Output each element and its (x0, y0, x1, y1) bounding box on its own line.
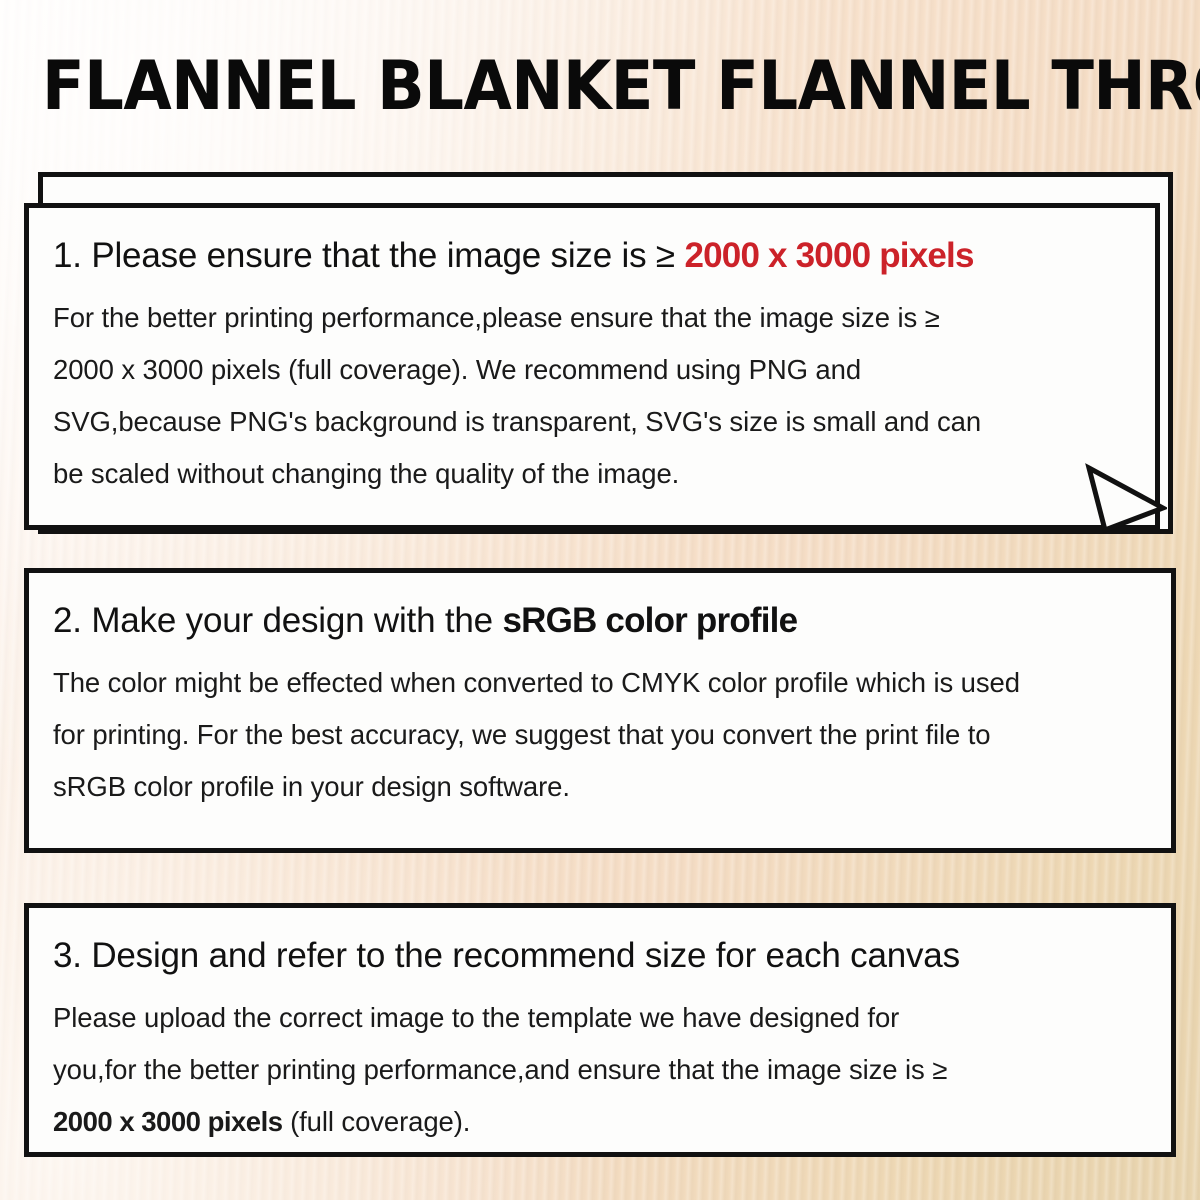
card-3-heading-lead: Design and refer to the recommend size f… (91, 936, 960, 975)
instruction-poster: FLANNEL BLANKET FLANNEL THROW 1. Please … (0, 0, 1200, 1200)
card-1-body-line-4: be scaled without changing the quality o… (53, 458, 679, 489)
card-1-heading-highlight: 2000 x 3000 pixels (684, 236, 973, 275)
card-3-body-line-1: Please upload the correct image to the t… (53, 1002, 899, 1033)
card-1-content: 1. Please ensure that the image size is … (29, 208, 1155, 510)
card-3-body-bold-size: 2000 x 3000 pixels (53, 1106, 283, 1137)
card-3-content: 3. Design and refer to the recommend siz… (29, 908, 1171, 1158)
card-2-body-line-3: sRGB color profile in your design softwa… (53, 771, 570, 802)
instruction-card-3: 3. Design and refer to the recommend siz… (24, 903, 1176, 1157)
card-2-body-line-2: for printing. For the best accuracy, we … (53, 719, 990, 750)
card-1-body-line-3: SVG,because PNG's background is transpar… (53, 406, 981, 437)
card-3-number: 3. (53, 936, 82, 975)
card-3-body-line-2: you,for the better printing performance,… (53, 1054, 947, 1085)
instruction-card-2: 2. Make your design with the sRGB color … (24, 568, 1176, 853)
card-3-body-bold-rest: (full coverage). (283, 1106, 471, 1137)
card-2-content: 2. Make your design with the sRGB color … (29, 573, 1171, 823)
card-2-body-line-1: The color might be effected when convert… (53, 667, 1020, 698)
card-1-heading: 1. Please ensure that the image size is … (53, 234, 1131, 278)
instruction-card-1: 1. Please ensure that the image size is … (24, 203, 1160, 530)
card-1-heading-lead: Please ensure that the image size is ≥ (91, 236, 675, 275)
card-2-heading-lead: Make your design with the (91, 601, 493, 640)
card-2-heading: 2. Make your design with the sRGB color … (53, 599, 1147, 643)
card-2-body: The color might be effected when convert… (53, 657, 1147, 813)
card-3-heading: 3. Design and refer to the recommend siz… (53, 934, 1147, 978)
card-3-body: Please upload the correct image to the t… (53, 992, 1147, 1148)
card-1-body-line-1: For the better printing performance,plea… (53, 302, 940, 333)
page-title: FLANNEL BLANKET FLANNEL THROW (42, 48, 1190, 126)
card-1-body: For the better printing performance,plea… (53, 292, 1131, 500)
card-1-body-line-2: 2000 x 3000 pixels (full coverage). We r… (53, 354, 861, 385)
card-1-number: 1. (53, 236, 82, 275)
card-2-number: 2. (53, 601, 82, 640)
card-2-heading-highlight: sRGB color profile (502, 601, 797, 640)
